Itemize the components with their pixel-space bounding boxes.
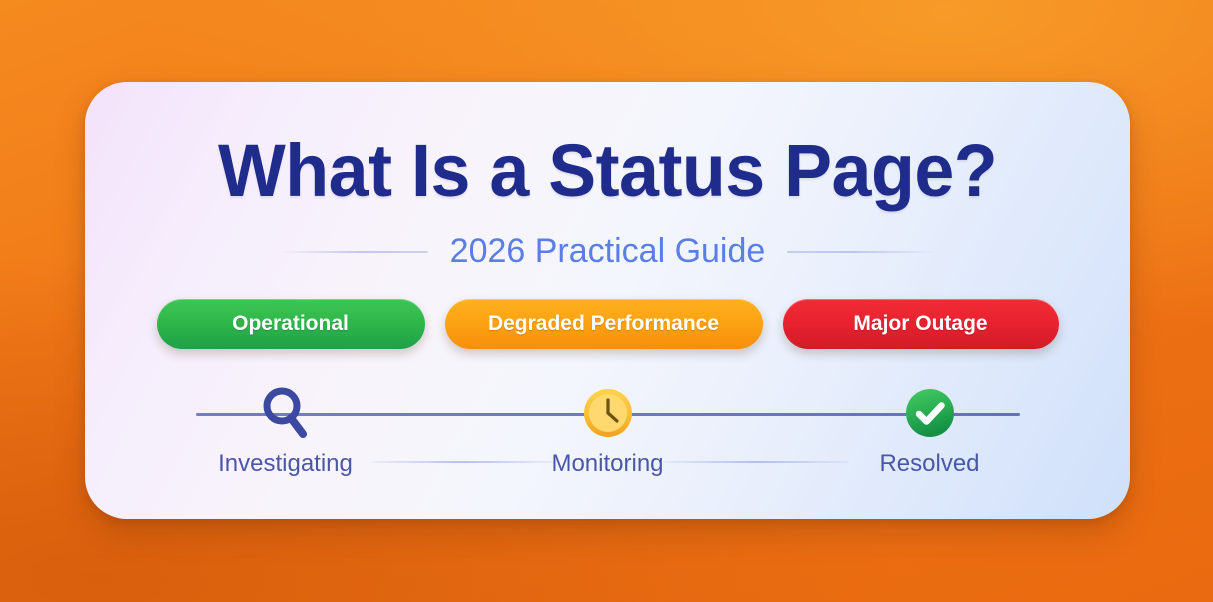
magnifying-glass-icon bbox=[253, 380, 319, 446]
status-page-card: What Is a Status Page? 2026 Practical Gu… bbox=[85, 82, 1130, 519]
timeline-step-resolved[interactable]: Resolved bbox=[840, 381, 1020, 478]
timeline-step-label-resolved: Resolved bbox=[879, 450, 979, 478]
clock-icon bbox=[575, 380, 641, 446]
poster-background: What Is a Status Page? 2026 Practical Gu… bbox=[0, 0, 1213, 602]
incident-timeline: Investigating bbox=[196, 381, 1020, 481]
timeline-steps: Investigating bbox=[196, 381, 1020, 481]
timeline-step-investigating[interactable]: Investigating bbox=[196, 381, 376, 478]
page-subtitle: 2026 Practical Guide bbox=[450, 232, 766, 271]
card-content: What Is a Status Page? 2026 Practical Gu… bbox=[85, 82, 1130, 519]
timeline-step-label-monitoring: Monitoring bbox=[551, 450, 663, 478]
check-circle-icon bbox=[897, 380, 963, 446]
timeline-step-monitoring[interactable]: Monitoring bbox=[518, 381, 698, 478]
status-pill-group: Operational Degraded Performance Major O… bbox=[157, 299, 1059, 349]
page-title: What Is a Status Page? bbox=[218, 134, 997, 208]
subtitle-row: 2026 Practical Guide bbox=[85, 232, 1130, 271]
status-badge-operational[interactable]: Operational bbox=[157, 299, 425, 349]
status-badge-degraded-performance[interactable]: Degraded Performance bbox=[445, 299, 763, 349]
timeline-step-label-investigating: Investigating bbox=[218, 450, 353, 478]
subtitle-rule-right bbox=[787, 251, 937, 253]
subtitle-rule-left bbox=[278, 251, 428, 253]
status-badge-major-outage[interactable]: Major Outage bbox=[783, 299, 1059, 349]
